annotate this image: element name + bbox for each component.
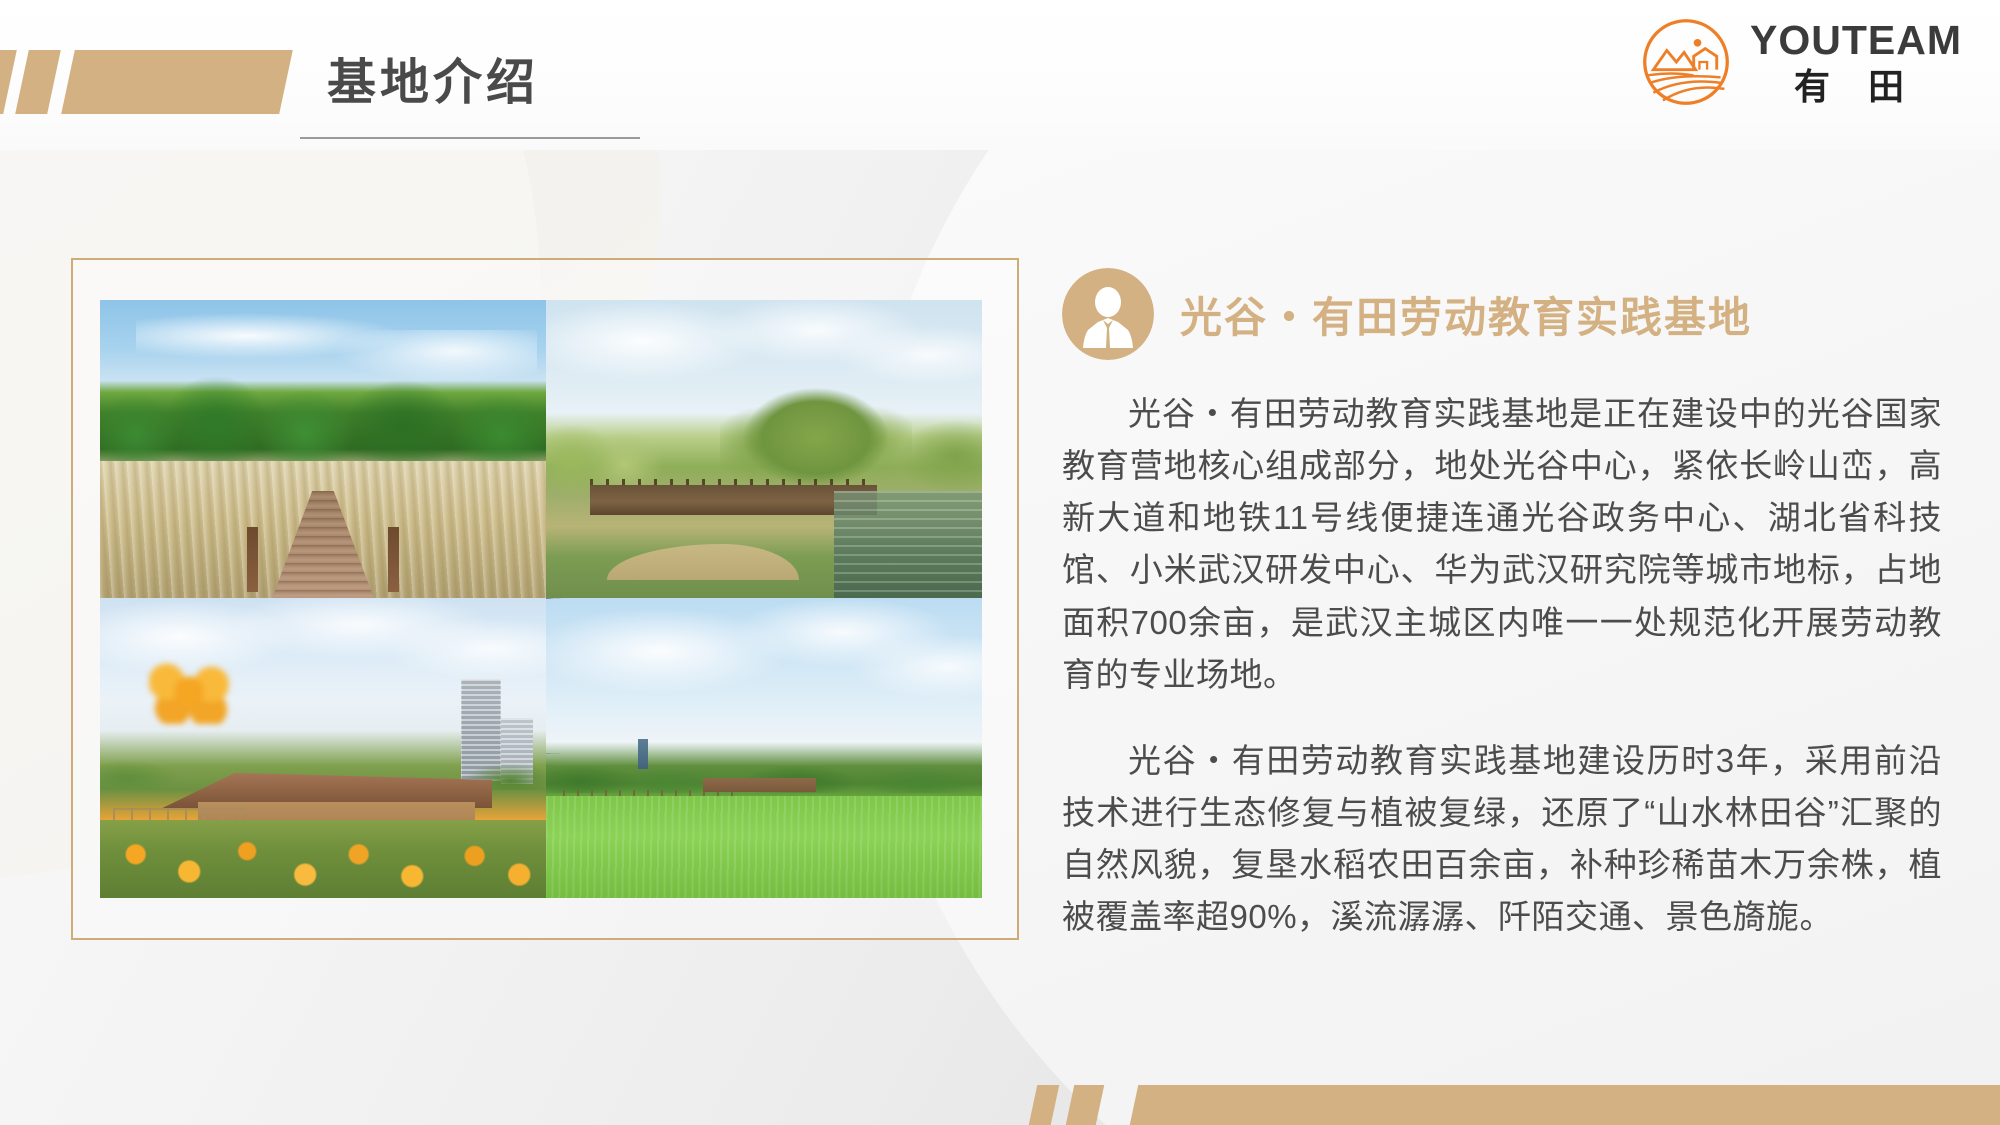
section-title: 光谷・有田劳动教育实践基地 (1180, 284, 1752, 345)
bare-branch-shape (475, 300, 546, 401)
photo-rice-paddy (546, 598, 982, 898)
slash-bar-3 (61, 50, 293, 114)
water-reflection-shape (834, 491, 982, 598)
slash-bar-4 (1130, 1085, 2000, 1125)
footer-slash-decoration (970, 1085, 2000, 1125)
photo-farmhouse-flowers (100, 598, 546, 898)
boardwalk-rail-left (247, 527, 258, 593)
photo-collage (100, 300, 982, 898)
header-slash-decoration (0, 50, 300, 114)
youteam-farm-circle-logo-icon (1638, 14, 1734, 110)
power-lines-shape (546, 598, 982, 754)
person-avatar-icon (1062, 268, 1154, 360)
rice-paddy-shape (546, 796, 982, 898)
content-panel: 光谷・有田劳动教育实践基地 光谷・有田劳动教育实践基地是正在建设中的光谷国家教育… (1062, 268, 1942, 977)
brand-wordmark: YOUTEAM 有 田 (1750, 20, 1962, 105)
photo-pond-deck (546, 300, 982, 598)
photo-boardwalk-reeds (100, 300, 546, 598)
foreground-flower-shape (149, 658, 229, 724)
title-underline (300, 137, 640, 139)
slash-bar-2 (15, 50, 61, 114)
brand-word-cn: 有 田 (1750, 69, 1962, 105)
section-header: 光谷・有田劳动教育实践基地 (1062, 268, 1942, 360)
slide-root: 基地介绍 YOUTEAM 有 田 (0, 0, 2000, 1125)
body-paragraph-1: 光谷・有田劳动教育实践基地是正在建设中的光谷国家教育营地核心组成部分，地处光谷中… (1062, 388, 1942, 701)
brand-word: YOUTEAM (1750, 20, 1962, 61)
orange-flower-field-shape (100, 820, 546, 898)
boardwalk-rail-right (388, 527, 399, 593)
slash-bar-6 (1029, 1085, 1060, 1125)
page-title: 基地介绍 (327, 43, 539, 114)
dirt-path-shape (607, 544, 799, 580)
slash-bar-5 (1066, 1085, 1105, 1125)
body-paragraph-2: 光谷・有田劳动教育实践基地建设历时3年，采用前沿技术进行生态修复与植被复绿，还原… (1062, 735, 1942, 944)
slash-bar-1 (0, 50, 17, 114)
brand-logo: YOUTEAM 有 田 (1638, 14, 1962, 110)
